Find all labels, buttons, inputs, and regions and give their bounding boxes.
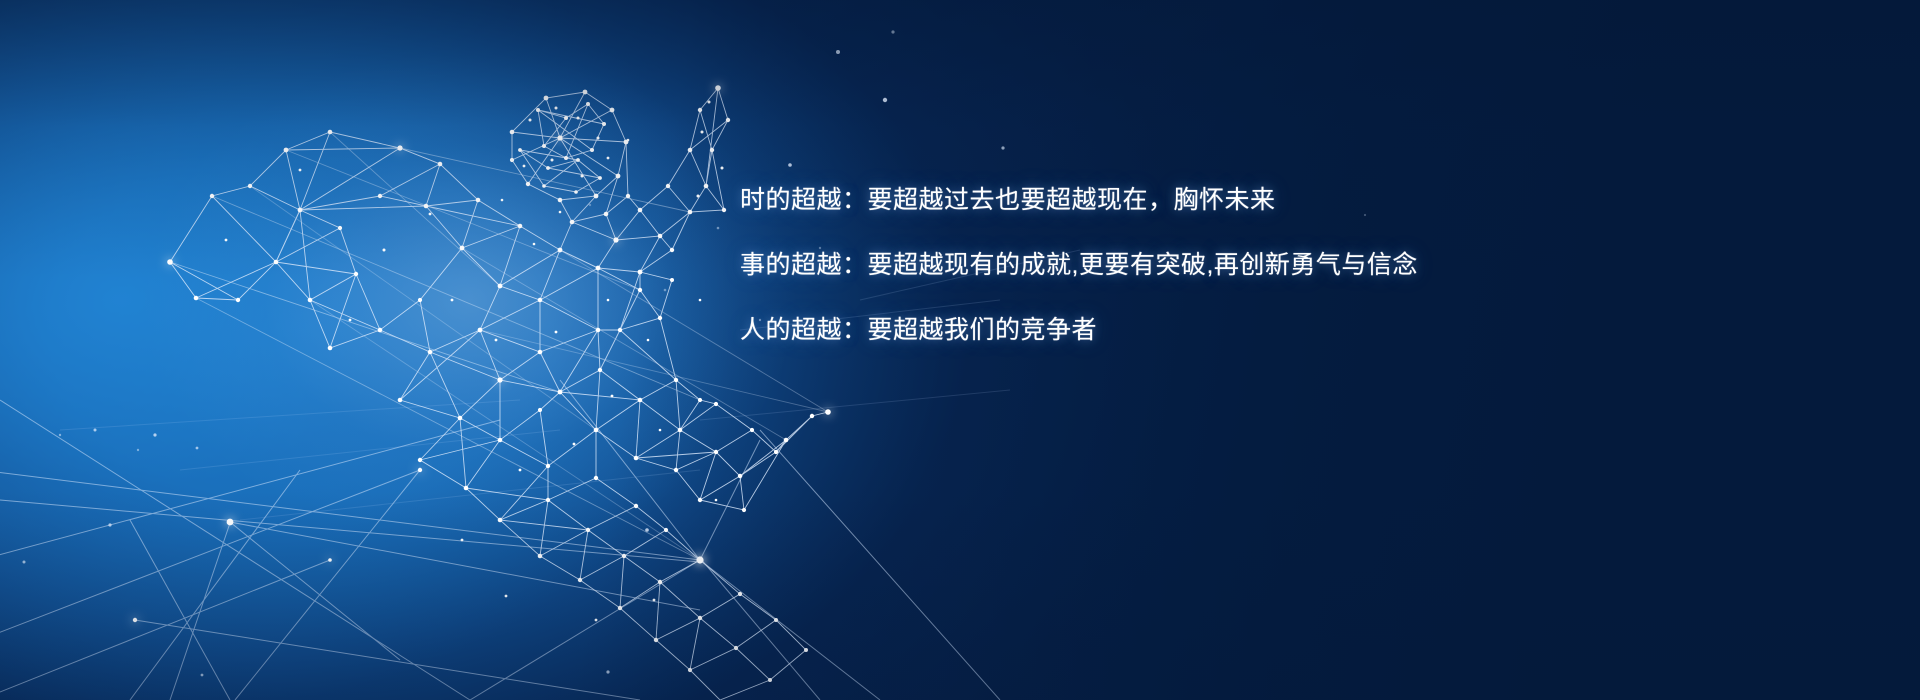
- tagline-time: 时的超越：要超越过去也要超越现在，胸怀未来: [740, 188, 1500, 213]
- tagline-work: 事的超越：要超越现有的成就,更要有突破,再创新勇气与信念: [740, 253, 1500, 278]
- tagline-people: 人的超越：要超越我们的竞争者: [740, 318, 1500, 343]
- tagline-group: 时的超越：要超越过去也要超越现在，胸怀未来 事的超越：要超越现有的成就,更要有突…: [740, 188, 1500, 343]
- hero-banner: 时的超越：要超越过去也要超越现在，胸怀未来 事的超越：要超越现有的成就,更要有突…: [0, 0, 1920, 700]
- background-top-shade: [0, 0, 1920, 700]
